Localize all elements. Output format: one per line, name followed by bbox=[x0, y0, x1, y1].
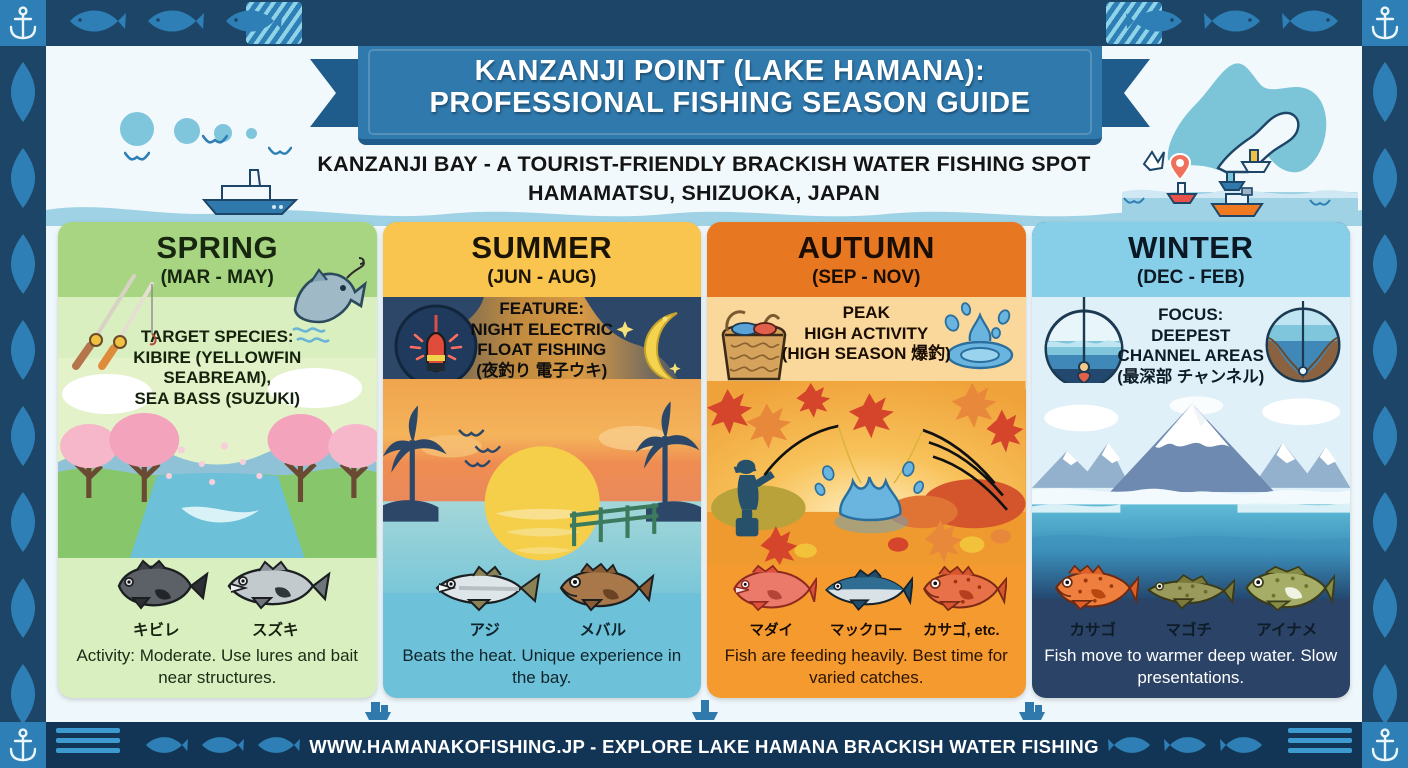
summer-illustration bbox=[383, 393, 702, 562]
jumping-fish-icon bbox=[281, 252, 367, 348]
anchor-icon bbox=[1362, 0, 1408, 46]
bubble-decoration bbox=[174, 118, 200, 144]
frame-top-border bbox=[0, 0, 1408, 46]
boat-icon bbox=[1168, 183, 1196, 203]
autumn-feature-line-1: PEAK bbox=[777, 303, 956, 324]
bird-icon bbox=[202, 134, 228, 148]
fish-name: マゴチ bbox=[1143, 618, 1235, 640]
poster-content: KANZANJI POINT (LAKE HAMANA): PROFESSION… bbox=[46, 46, 1362, 722]
season-panel-summer[interactable]: SUMMER (JUN - AUG) bbox=[383, 222, 702, 698]
fish-item: メバル bbox=[551, 562, 655, 640]
fish-name: スズキ bbox=[219, 618, 331, 640]
fish-icon bbox=[8, 234, 38, 294]
fish-icon-makkuro bbox=[819, 565, 913, 613]
fish-icon bbox=[8, 664, 38, 724]
fish-icon bbox=[1370, 234, 1400, 294]
title-ribbon: KANZANJI POINT (LAKE HAMANA): PROFESSION… bbox=[310, 46, 1150, 151]
fish-icon bbox=[8, 62, 38, 122]
season-panel-spring[interactable]: SPRING (MAR - MAY) bbox=[58, 222, 377, 698]
spring-feature-line-3: SEA BASS (SUZUKI) bbox=[98, 389, 337, 410]
fish-name: カサゴ bbox=[1047, 618, 1139, 640]
fish-name: キビレ bbox=[103, 618, 209, 640]
fish-icon bbox=[1126, 8, 1182, 34]
autumn-feature-line-2: HIGH ACTIVITY bbox=[777, 324, 956, 345]
bubble-decoration bbox=[246, 128, 257, 139]
fish-icon-madai bbox=[725, 563, 817, 613]
fish-icon bbox=[8, 492, 38, 552]
fish-icon bbox=[1370, 406, 1400, 466]
boat-icon bbox=[1220, 172, 1244, 190]
top-border-fish-strip-right bbox=[1126, 8, 1338, 34]
fish-item: スズキ bbox=[219, 558, 331, 640]
autumn-top-band: PEAK HIGH ACTIVITY (HIGH SEASON 爆釣) bbox=[707, 297, 1026, 389]
fish-icon bbox=[1282, 8, 1338, 34]
winter-season-name: WINTER bbox=[1036, 232, 1347, 263]
spring-note: Activity: Moderate. Use lures and bait n… bbox=[58, 640, 377, 698]
autumn-fish-row: マダイ マックロー bbox=[707, 563, 1026, 640]
winter-illustration bbox=[1032, 393, 1351, 562]
fish-item: アイナメ bbox=[1239, 562, 1335, 640]
spring-illustration bbox=[58, 412, 377, 558]
season-panel-winter[interactable]: WINTER (DEC - FEB) bbox=[1032, 222, 1351, 698]
corner-badge-top-left bbox=[0, 0, 46, 46]
boat-icon bbox=[1017, 694, 1047, 722]
fish-icon bbox=[226, 8, 282, 34]
season-panels: SPRING (MAR - MAY) bbox=[54, 222, 1354, 698]
winter-feature-text: FOCUS: DEEPEST CHANNEL AREAS (最深部 チャンネル) bbox=[1032, 305, 1351, 387]
title-line-2: PROFESSIONAL FISHING SEASON GUIDE bbox=[358, 87, 1102, 119]
fish-item: キビレ bbox=[103, 558, 209, 640]
fish-item: カサゴ, etc. bbox=[915, 563, 1007, 640]
summer-feature-line-1: FEATURE: bbox=[447, 299, 638, 320]
map-inlet-detail bbox=[1144, 152, 1164, 170]
fish-icon-kasago-winter bbox=[1047, 562, 1139, 612]
summer-months: (JUN - AUG) bbox=[387, 267, 698, 289]
summer-feature-line-3: FLOAT FISHING bbox=[447, 340, 638, 361]
fish-item: マックロー bbox=[819, 565, 913, 640]
boat-icon bbox=[690, 694, 720, 722]
fish-icon-magochi bbox=[1143, 566, 1235, 612]
fishing-rods-icon bbox=[72, 262, 172, 372]
infographic-poster: KANZANJI POINT (LAKE HAMANA): PROFESSION… bbox=[0, 0, 1408, 768]
autumn-illustration bbox=[707, 389, 1026, 563]
summer-feature-japanese: (夜釣り 電子ウキ) bbox=[447, 361, 638, 381]
summer-note: Beats the heat. Unique experience in the… bbox=[383, 640, 702, 698]
fish-icon bbox=[8, 320, 38, 380]
season-panel-autumn[interactable]: AUTUMN (SEP - NOV) bbox=[707, 222, 1026, 698]
fish-icon-ainame bbox=[1239, 562, 1335, 612]
fish-icon bbox=[1370, 664, 1400, 724]
winter-feature-line-2: DEEPEST bbox=[1110, 326, 1273, 347]
top-border-fish-strip bbox=[70, 8, 282, 34]
map-pin-icon bbox=[1170, 154, 1190, 180]
title-line-1: KANZANJI POINT (LAKE HAMANA): bbox=[358, 55, 1102, 87]
autumn-season-name: AUTUMN bbox=[711, 232, 1022, 263]
fish-item: マダイ bbox=[725, 563, 817, 640]
summer-feature-line-2: NIGHT ELECTRIC bbox=[447, 320, 638, 341]
fish-icon bbox=[8, 578, 38, 638]
anchor-icon bbox=[0, 0, 46, 46]
boat-separators bbox=[54, 694, 1354, 722]
winter-months: (DEC - FEB) bbox=[1036, 267, 1347, 289]
summer-fish-row: アジ メバル bbox=[383, 562, 702, 640]
fish-name: マダイ bbox=[725, 619, 817, 640]
fish-icon bbox=[1370, 492, 1400, 552]
footer-text: WWW.HAMANAKOFISHING.JP - EXPLORE LAKE HA… bbox=[0, 736, 1408, 758]
autumn-header: AUTUMN (SEP - NOV) bbox=[707, 222, 1026, 297]
fish-icon-kibire bbox=[103, 558, 209, 612]
fish-icon bbox=[1370, 148, 1400, 208]
fish-icon-kasago bbox=[915, 563, 1007, 613]
summer-header: SUMMER (JUN - AUG) bbox=[383, 222, 702, 297]
bubble-decoration bbox=[120, 112, 154, 146]
fish-name: カサゴ, etc. bbox=[915, 619, 1007, 640]
fish-icon bbox=[1370, 62, 1400, 122]
autumn-months: (SEP - NOV) bbox=[711, 267, 1022, 289]
fish-item: アジ bbox=[429, 562, 541, 640]
winter-feature-line-1: FOCUS: bbox=[1110, 305, 1273, 326]
autumn-note: Fish are feeding heavily. Best time for … bbox=[707, 640, 1026, 698]
winter-header: WINTER (DEC - FEB) bbox=[1032, 222, 1351, 297]
fish-icon-aji bbox=[429, 562, 541, 612]
shizuoka-map-inset bbox=[1122, 48, 1358, 224]
winter-feature-line-3: CHANNEL AREAS bbox=[1110, 346, 1273, 367]
frame-right-border bbox=[1362, 0, 1408, 768]
left-border-fish-column bbox=[8, 62, 38, 768]
fish-icon bbox=[1370, 320, 1400, 380]
boat-icon bbox=[363, 694, 393, 722]
winter-feature-japanese: (最深部 チャンネル) bbox=[1110, 367, 1273, 387]
fish-icon bbox=[148, 8, 204, 34]
fish-icon bbox=[1370, 578, 1400, 638]
fish-icon-suzuki bbox=[219, 558, 331, 612]
winter-note: Fish move to warmer deep water. Slow pre… bbox=[1032, 640, 1351, 698]
summer-feature-text: FEATURE: NIGHT ELECTRIC FLOAT FISHING (夜… bbox=[383, 299, 702, 381]
winter-fish-row: カサゴ マゴチ bbox=[1032, 562, 1351, 640]
autumn-feature-text: PEAK HIGH ACTIVITY (HIGH SEASON 爆釣) bbox=[707, 303, 1026, 365]
winter-top-band: FOCUS: DEEPEST CHANNEL AREAS (最深部 チャンネル) bbox=[1032, 297, 1351, 393]
autumn-feature-line-3: (HIGH SEASON 爆釣) bbox=[777, 344, 956, 365]
fish-icon bbox=[8, 148, 38, 208]
fish-icon bbox=[70, 8, 126, 34]
corner-badge-top-right bbox=[1362, 0, 1408, 46]
fish-item: マゴチ bbox=[1143, 566, 1235, 640]
page-title: KANZANJI POINT (LAKE HAMANA): PROFESSION… bbox=[358, 46, 1102, 120]
fish-name: アジ bbox=[429, 618, 541, 640]
summer-night-band: FEATURE: NIGHT ELECTRIC FLOAT FISHING (夜… bbox=[383, 297, 702, 393]
fish-icon bbox=[8, 406, 38, 466]
spring-fish-row: キビレ スズキ bbox=[58, 558, 377, 640]
frame-left-border bbox=[0, 0, 46, 768]
fish-icon-mebaru bbox=[551, 562, 655, 612]
ribbon-banner: KANZANJI POINT (LAKE HAMANA): PROFESSION… bbox=[358, 46, 1102, 145]
summer-season-name: SUMMER bbox=[387, 232, 698, 263]
fish-name: マックロー bbox=[819, 619, 913, 640]
fish-name: メバル bbox=[551, 618, 655, 640]
fish-item: カサゴ bbox=[1047, 562, 1139, 640]
fish-name: アイナメ bbox=[1239, 618, 1335, 640]
fish-icon bbox=[1204, 8, 1260, 34]
right-border-fish-column bbox=[1370, 62, 1400, 768]
